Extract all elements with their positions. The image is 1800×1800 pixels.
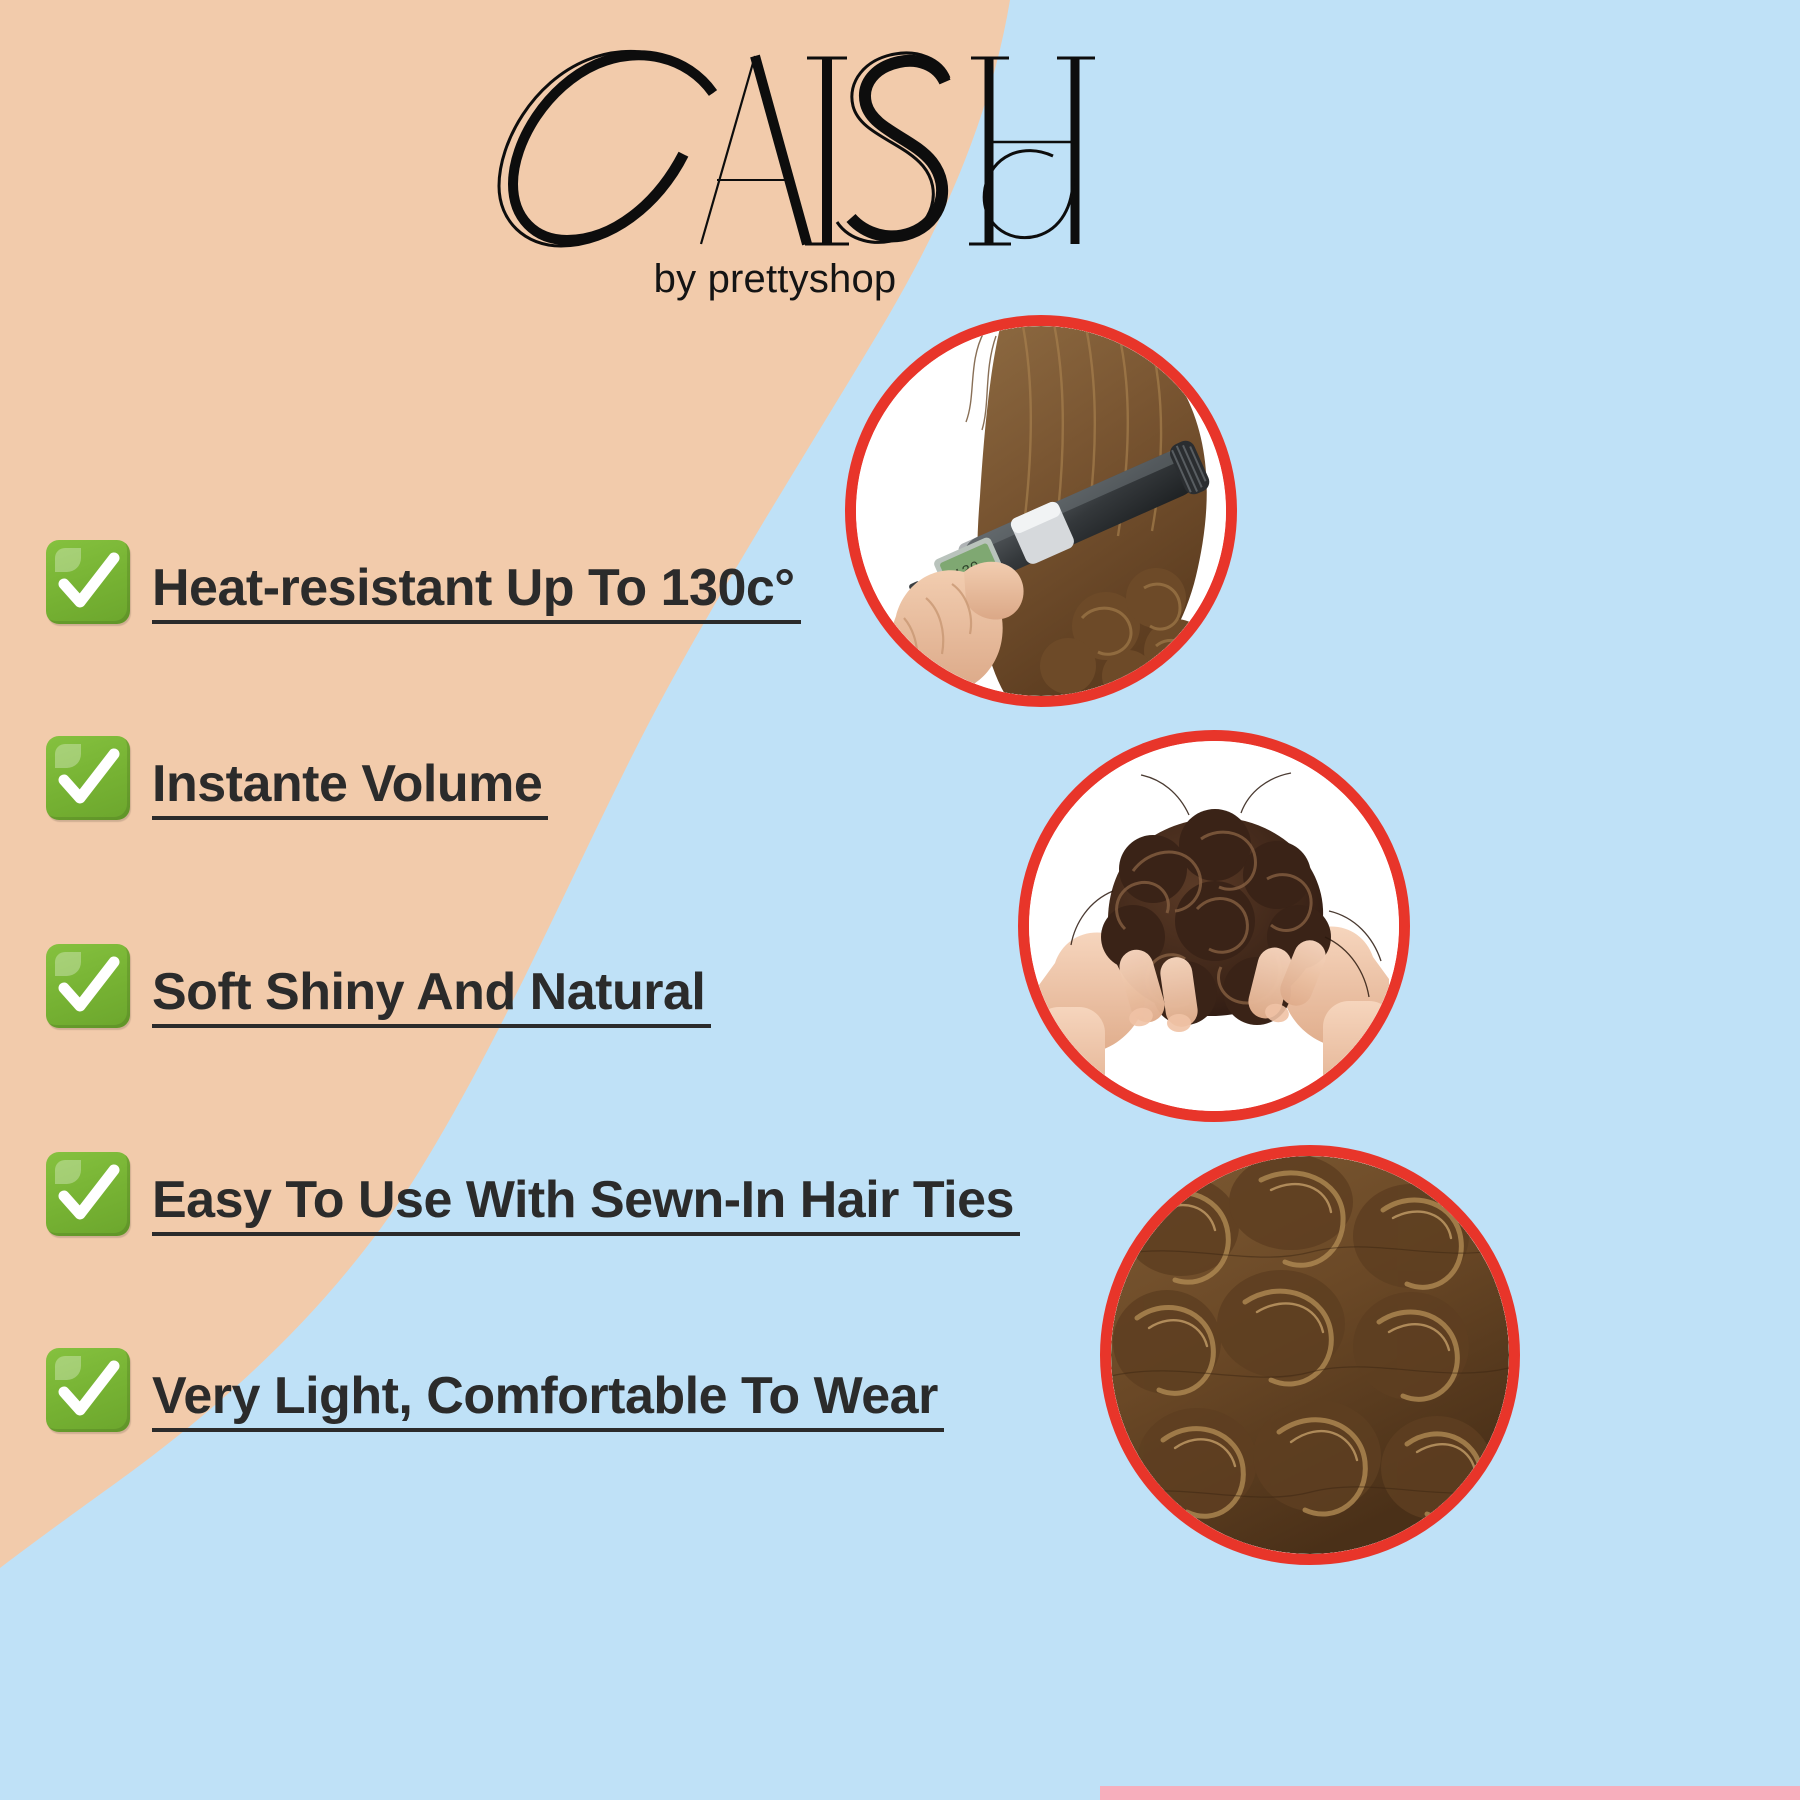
feature-label: Soft Shiny And Natural [152,966,705,1028]
feature-label-text: Soft Shiny And Natural [152,963,705,1021]
feature-label: Heat-resistant Up To 130c° [152,562,795,624]
feature-underline [152,816,548,820]
photo-hair-straightener: 130 [845,315,1237,707]
feature-item: Soft Shiny And Natural [46,944,1046,1028]
check-mark-icon [46,540,130,624]
svg-text:· I refuse: · I refuse [1045,1063,1081,1073]
feature-label-text: Very Light, Comfortable To Wear [152,1367,938,1425]
bottom-accent-bar [1100,1786,1800,1800]
feature-underline [152,620,801,624]
brand-logo-block: by prettyshop [455,38,1095,302]
feature-label-text: Heat-resistant Up To 130c° [152,559,795,617]
feature-label-text: Instante Volume [152,755,542,813]
feature-label: Very Light, Comfortable To Wear [152,1370,938,1432]
check-mark-icon [46,736,130,820]
feature-label-text: Easy To Use With Sewn-In Hair Ties [152,1171,1014,1229]
feature-underline [152,1232,1020,1236]
product-infographic: by prettyshop Heat-resistant Up To 130c° [0,0,1800,1800]
feature-underline [152,1428,944,1432]
photo-hands-holding-hairpiece: · I refuse to sink [1018,730,1410,1122]
check-mark-icon [46,1152,130,1236]
photo-curly-hair-closeup [1100,1145,1520,1565]
feature-item: Very Light, Comfortable To Wear [46,1348,1046,1432]
feature-label: Easy To Use With Sewn-In Hair Ties [152,1174,1014,1236]
svg-text:to sink: to sink [1045,1077,1072,1087]
brand-tagline: by prettyshop [455,257,1095,302]
feature-item: Easy To Use With Sewn-In Hair Ties [46,1152,1046,1236]
caisha-wordmark-logo [455,38,1095,253]
check-mark-icon [46,944,130,1028]
feature-label: Instante Volume [152,758,542,820]
feature-item: Instante Volume [46,736,1046,820]
feature-underline [152,1024,711,1028]
check-mark-icon [46,1348,130,1432]
